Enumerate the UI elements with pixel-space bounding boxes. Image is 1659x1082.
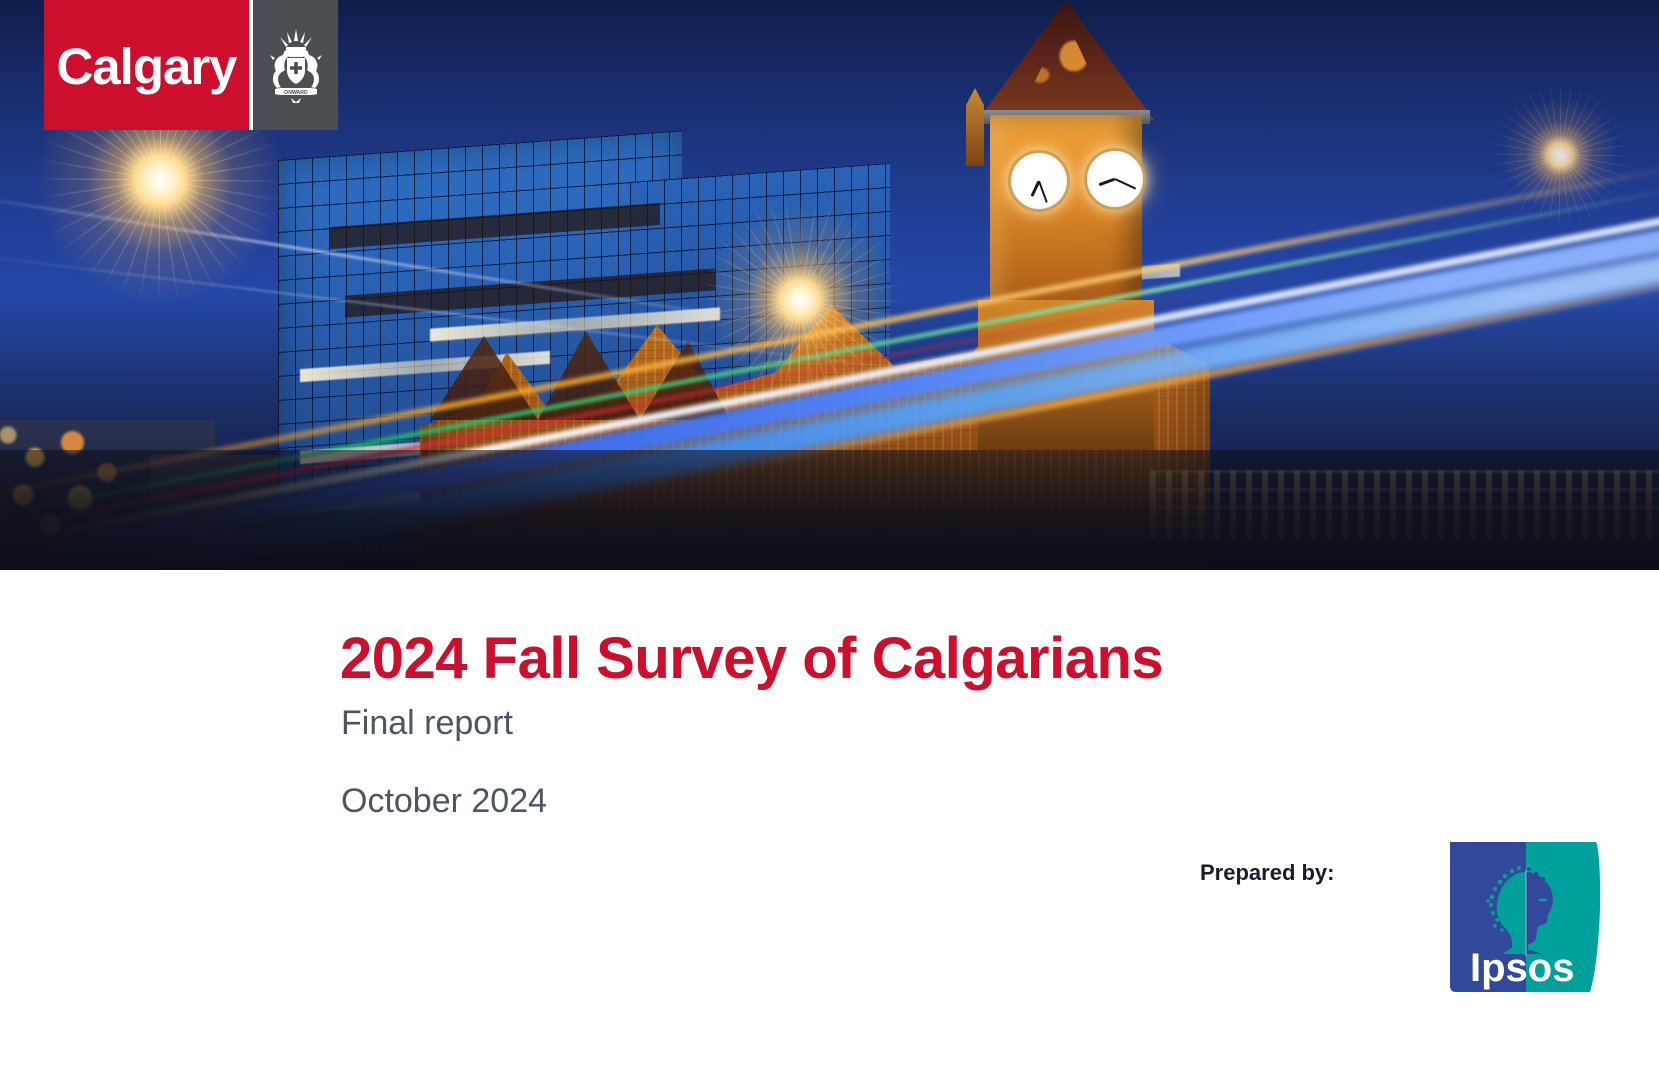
- foreground-street: [0, 450, 1659, 570]
- street-lamp-rays: [670, 170, 930, 430]
- city-of-calgary-logo: Calgary: [44, 0, 338, 130]
- calgary-wordmark: Calgary: [56, 41, 236, 92]
- street-lamp-rays: [1470, 65, 1650, 245]
- crest-motto-text: ONWARD: [284, 90, 308, 96]
- calgary-crest-block: ONWARD: [249, 0, 338, 130]
- cover-text-area: 2024 Fall Survey of Calgarians Final rep…: [0, 570, 1659, 1082]
- page-subtitle: Final report: [341, 704, 513, 743]
- calgary-wordmark-block: Calgary: [44, 0, 249, 130]
- ipsos-logo: Ipsos: [1450, 842, 1602, 992]
- page-title: 2024 Fall Survey of Calgarians: [340, 625, 1163, 692]
- ipsos-wordmark: Ipsos: [1470, 946, 1574, 990]
- ipsos-logo-icon: Ipsos: [1450, 842, 1602, 992]
- report-date: October 2024: [341, 782, 547, 821]
- calgary-coat-of-arms-icon: ONWARD: [265, 25, 327, 105]
- report-cover-page: Calgary: [0, 0, 1659, 1082]
- prepared-by-label: Prepared by:: [1200, 860, 1335, 886]
